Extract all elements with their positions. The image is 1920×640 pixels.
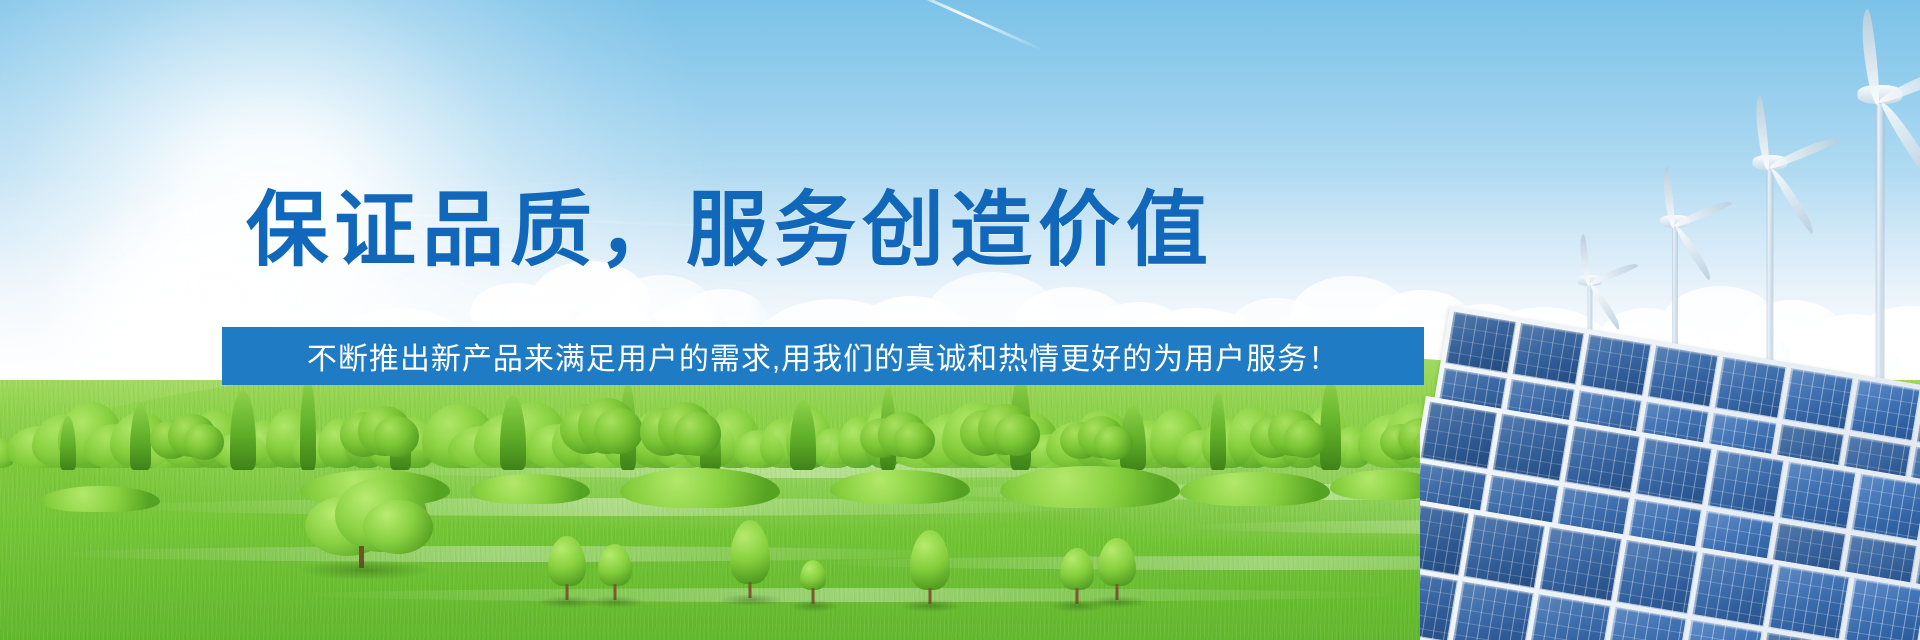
canopy-tree bbox=[560, 398, 648, 468]
solar-cell bbox=[1493, 414, 1569, 481]
canopy-tree bbox=[150, 414, 222, 468]
turbine-blade bbox=[1769, 166, 1817, 235]
cypress-tree bbox=[230, 390, 256, 470]
solar-cell bbox=[1540, 527, 1622, 601]
solar-panel-array bbox=[1420, 300, 1920, 640]
solar-cell bbox=[1851, 474, 1920, 541]
solar-cell bbox=[1648, 346, 1719, 407]
canopy-tree bbox=[860, 412, 934, 468]
mow-stripe bbox=[120, 498, 1100, 516]
canopy-tree bbox=[1250, 410, 1326, 468]
solar-cell bbox=[1564, 426, 1640, 493]
solar-cell bbox=[1708, 450, 1784, 517]
solar-cell bbox=[1616, 540, 1698, 614]
turbine-blade bbox=[1879, 99, 1920, 187]
solar-cell bbox=[1420, 568, 1458, 640]
subtitle-text: 不断推出新产品来满足用户的需求,用我们的真诚和热情更好的为用户服务！ bbox=[307, 334, 1339, 378]
solar-cell bbox=[1464, 515, 1546, 589]
contrail bbox=[887, 0, 1044, 51]
solar-cell bbox=[1446, 312, 1517, 373]
cypress-tree bbox=[300, 377, 316, 470]
solar-cell bbox=[1605, 607, 1687, 640]
solar-cell bbox=[1715, 357, 1786, 418]
solar-cell bbox=[1780, 462, 1856, 529]
solar-cell bbox=[1453, 581, 1535, 640]
canopy-tree bbox=[340, 406, 420, 468]
subtitle-banner: 不断推出新产品来满足用户的需求,用我们的真诚和热情更好的为用户服务！ bbox=[222, 327, 1424, 385]
turbine-blade bbox=[1674, 224, 1713, 281]
canopy-tree bbox=[1060, 416, 1130, 468]
solar-cell bbox=[1420, 502, 1469, 576]
solar-cell bbox=[1421, 402, 1497, 469]
solar-cell bbox=[1769, 565, 1851, 639]
solar-cell bbox=[1845, 578, 1920, 640]
page-title: 保证品质，服务创造价值 bbox=[0, 188, 1460, 274]
canopy-tree bbox=[960, 404, 1042, 468]
cypress-tree bbox=[1210, 392, 1226, 470]
solar-cell bbox=[1850, 379, 1920, 440]
mow-stripe bbox=[60, 546, 960, 562]
solar-cell bbox=[1529, 594, 1611, 640]
solar-cell bbox=[1783, 368, 1854, 429]
solar-cell bbox=[1513, 323, 1584, 384]
canopy-tree bbox=[640, 402, 724, 468]
mow-stripe bbox=[300, 588, 1400, 602]
solar-cell bbox=[1636, 438, 1712, 505]
solar-cell bbox=[1692, 553, 1774, 627]
hero-banner: 保证品质，服务创造价值 不断推出新产品来满足用户的需求,用我们的真诚和热情更好的… bbox=[0, 0, 1920, 640]
solar-cell bbox=[1580, 334, 1651, 395]
